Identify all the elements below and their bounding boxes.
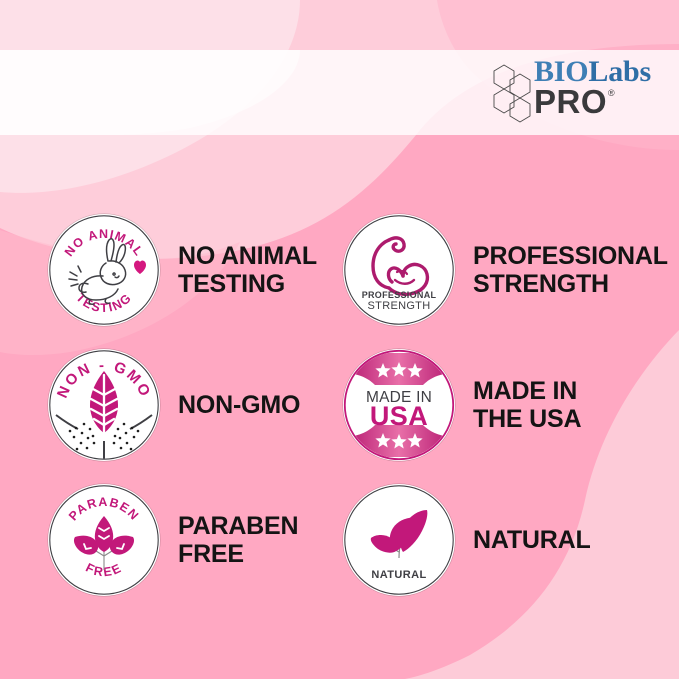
flexed-bicep-icon: PROFESSIONAL STRENGTH	[343, 214, 455, 326]
badge-label-paraben-free: PARABEN FREE	[178, 512, 298, 568]
three-leaves-icon: PARABEN FREE	[48, 484, 160, 596]
usa-stars-banner-icon: MADE IN USA	[343, 349, 455, 461]
badge-label-professional-strength: PROFESSIONAL STRENGTH	[473, 242, 668, 298]
badge-item-professional-strength: PROFESSIONAL STRENGTH PROFESSIONAL STREN…	[343, 214, 668, 326]
hexagon-chain-icon	[490, 63, 532, 130]
badge-text-usa: USA	[370, 401, 428, 431]
badge-label-no-animal-testing: NO ANIMAL TESTING	[178, 242, 317, 298]
badge-label-made-in-usa: MADE IN THE USA	[473, 377, 581, 433]
badge-label-natural: NATURAL	[473, 526, 591, 554]
badge-text-natural: NATURAL	[371, 569, 426, 581]
brand-logo: BIOLabs PRO ®	[490, 57, 651, 130]
badge-item-no-animal-testing: NO ANIMAL TESTING	[48, 214, 317, 326]
registered-trademark-mark: ®	[608, 89, 615, 98]
brand-name-bottom: PRO	[534, 85, 607, 118]
rabbit-heart-icon: NO ANIMAL TESTING	[48, 214, 160, 326]
badge-item-made-in-usa: MADE IN USA MADE IN THE USA	[343, 349, 581, 461]
two-leaves-sprout-icon: NATURAL	[343, 484, 455, 596]
badge-text-strength: STRENGTH	[368, 300, 431, 312]
leaf-soil-icon: NON - GMO	[48, 349, 160, 461]
badge-label-non-gmo: NON-GMO	[178, 391, 300, 419]
promo-infographic: BIOLabs PRO ® NO ANIMAL	[0, 0, 679, 679]
badge-item-paraben-free: PARABEN FREE	[48, 484, 298, 596]
badge-item-non-gmo: NON - GMO	[48, 349, 300, 461]
badge-item-natural: NATURAL NATURAL	[343, 484, 591, 596]
badge-text-professional: PROFESSIONAL	[362, 290, 437, 300]
